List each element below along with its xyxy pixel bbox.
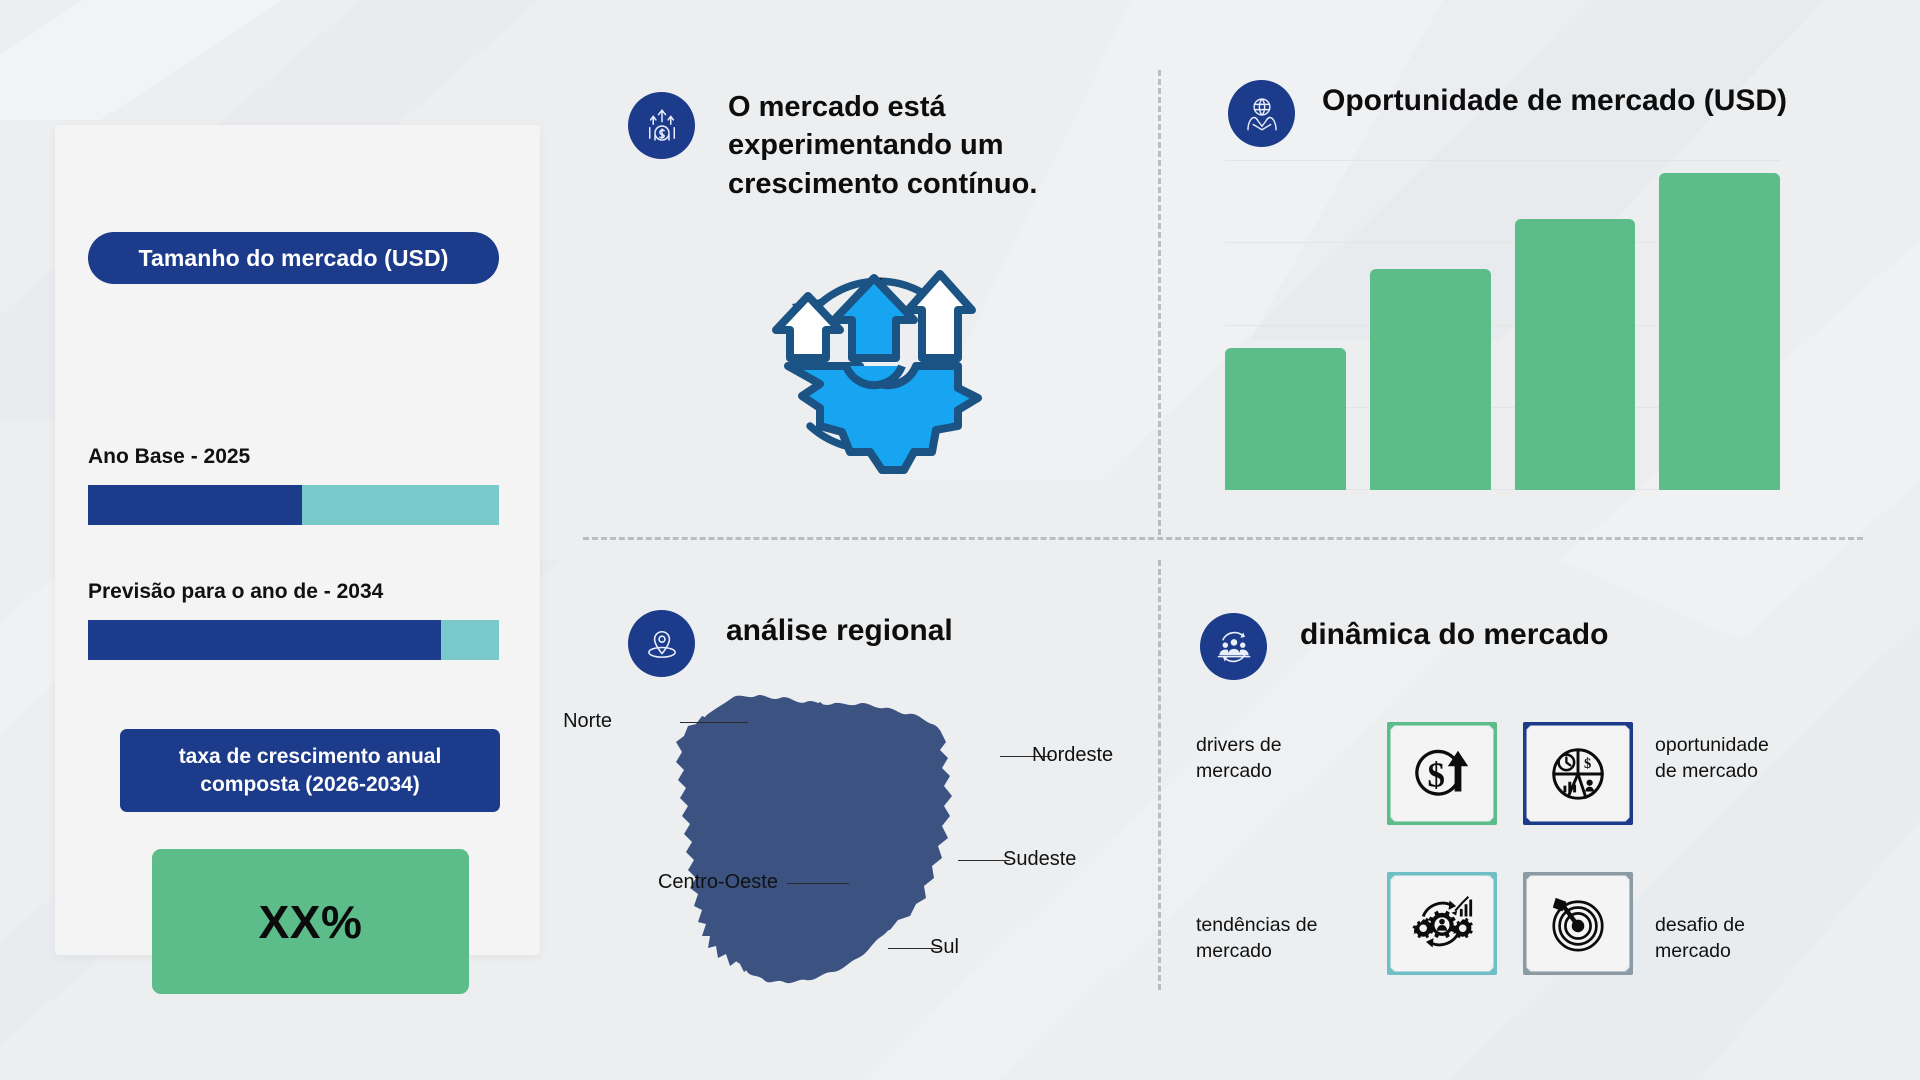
cagr-value-box: XX%: [152, 849, 469, 994]
map-label-centro-oeste: Centro-Oeste: [658, 871, 778, 894]
growth-arrows-coin-icon: [628, 92, 695, 159]
base-year-label: Ano Base - 2025: [88, 445, 250, 469]
forecast-year-label: Previsão para o ano de - 2034: [88, 580, 383, 604]
forecast-year-bar-fill: [88, 620, 441, 660]
dynamics-label-drivers: drivers de mercado: [1196, 733, 1282, 784]
dynamics-panel-title: dinâmica do mercado: [1300, 618, 1608, 652]
chart-bar: [1370, 269, 1491, 490]
divider-horizontal: [583, 537, 1863, 540]
people-cycle-icon: [1200, 613, 1267, 680]
map-label-sudeste: Sudeste: [1003, 848, 1076, 871]
market-size-card: Tamanho do mercado (USD) Ano Base - 2025…: [55, 125, 540, 955]
dynamics-frame-trends[interactable]: [1387, 872, 1497, 975]
dynamics-frame-drivers[interactable]: $: [1387, 722, 1497, 825]
svg-text:$: $: [1584, 756, 1591, 772]
pie-chart-icon: $: [1547, 743, 1609, 805]
chart-bar: [1659, 173, 1780, 490]
dynamics-label-challenge: desafio de mercado: [1655, 913, 1745, 964]
location-pin-icon: [628, 610, 695, 677]
globe-in-hands-icon: [1228, 80, 1295, 147]
gears-cycle-icon: [1410, 893, 1474, 955]
dynamics-frame-challenge[interactable]: [1523, 872, 1633, 975]
map-label-nordeste: Nordeste: [1032, 744, 1113, 767]
brazil-map: [640, 680, 1060, 1000]
leader-centro-oeste: [787, 883, 849, 884]
dynamics-label-opportunity: oportunidade de mercado: [1655, 733, 1769, 784]
dartboard-icon: [1547, 893, 1609, 955]
map-label-norte: Norte: [563, 710, 612, 733]
dynamics-frame-opportunity[interactable]: $: [1523, 722, 1633, 825]
opportunity-panel-title: Oportunidade de mercado (USD): [1322, 84, 1787, 118]
base-year-bar-track: [88, 485, 499, 525]
chart-bar: [1515, 219, 1636, 490]
dynamics-label-trends: tendências de mercado: [1196, 913, 1317, 964]
gear-arrows-dollar-icon: $: [748, 248, 998, 483]
svg-text:$: $: [1427, 755, 1444, 794]
divider-vertical-top: [1158, 70, 1161, 535]
cagr-label-box: taxa de crescimento anual composta (2026…: [120, 729, 500, 812]
brazil-map-outline: [640, 680, 1060, 1000]
chart-bar: [1225, 348, 1346, 490]
map-label-sul: Sul: [930, 936, 959, 959]
base-year-bar-fill: [88, 485, 302, 525]
growth-panel-title: O mercado está experimentando um crescim…: [728, 88, 1128, 203]
leader-norte: [680, 722, 748, 723]
regional-panel-title: análise regional: [726, 614, 953, 648]
market-size-pill: Tamanho do mercado (USD): [88, 232, 499, 284]
forecast-year-bar-track: [88, 620, 499, 660]
dollar-up-arrow-icon: $: [1411, 743, 1473, 805]
opportunity-bar-chart: [1225, 160, 1780, 490]
divider-vertical-bottom: [1158, 560, 1161, 990]
